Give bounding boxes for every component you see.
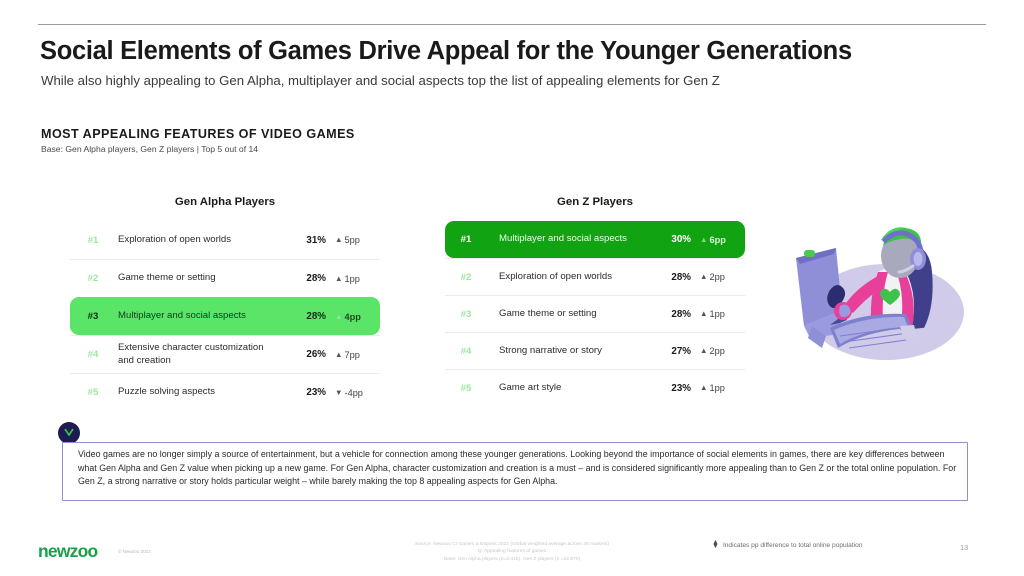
triangle-up-icon: ▲ <box>700 272 708 281</box>
slide-root: Social Elements of Games Drive Appeal fo… <box>0 0 1024 576</box>
gen-alpha-pp-delta: ▲5pp <box>326 235 380 245</box>
gen-z-pp-value: 1pp <box>710 309 725 319</box>
gen-z-percent: 23% <box>653 383 691 394</box>
triangle-up-icon: ▲ <box>335 274 343 283</box>
table-row[interactable]: #1Exploration of open worlds31%▲5pp <box>70 221 380 259</box>
source-line: Source: Newzoo CI Games & Esports 2022 (… <box>312 541 712 548</box>
panel-gen-alpha: Gen Alpha Players #1Exploration of open … <box>70 196 380 411</box>
table-row[interactable]: #2Game theme or setting28%▲1pp <box>70 259 380 297</box>
pp-legend: ▲▼ Indicates pp difference to total onli… <box>712 541 863 550</box>
triangle-up-icon: ▲ <box>335 235 343 244</box>
table-row[interactable]: #4Strong narrative or story27%▲2pp <box>445 332 745 369</box>
table-row[interactable]: #2Exploration of open worlds28%▲2pp <box>445 258 745 295</box>
gen-alpha-percent: 28% <box>288 273 326 284</box>
gen-z-percent: 28% <box>653 272 691 283</box>
triangle-up-icon: ▲ <box>700 309 708 318</box>
gen-z-percent: 28% <box>653 309 691 320</box>
triangle-up-icon: ▲ <box>700 235 708 244</box>
gen-z-pp-value: 6pp <box>710 235 726 245</box>
gamer-illustration <box>782 214 974 374</box>
gen-z-rank: #5 <box>445 383 487 394</box>
table-row[interactable]: #1Multiplayer and social aspects30%▲6pp <box>445 221 745 258</box>
gen-z-rank: #4 <box>445 346 487 357</box>
page-number: 13 <box>960 543 968 552</box>
gen-z-pp-delta: ▲6pp <box>691 235 745 245</box>
gen-alpha-rank: #3 <box>70 311 116 322</box>
gen-alpha-feature-label: Multiplayer and social aspects <box>116 310 288 322</box>
gen-z-rank: #2 <box>445 272 487 283</box>
source-line: Q: Appealing features of games <box>312 548 712 555</box>
gen-alpha-percent: 26% <box>288 349 326 360</box>
gen-z-rank: #1 <box>445 234 487 245</box>
table-row[interactable]: #5Puzzle solving aspects23%▼-4pp <box>70 373 380 411</box>
gen-alpha-pp-value: -4pp <box>345 388 363 398</box>
gen-z-percent: 30% <box>653 234 691 245</box>
gen-alpha-rank: #5 <box>70 387 116 398</box>
gen-z-pp-value: 1pp <box>710 383 725 393</box>
triangle-up-icon: ▲ <box>335 350 343 359</box>
table-row[interactable]: #5Game art style23%▲1pp <box>445 369 745 406</box>
section-kicker-base: Base: Gen Alpha players, Gen Z players |… <box>41 144 258 154</box>
insight-text: Video games are no longer simply a sourc… <box>78 448 958 489</box>
section-kicker: MOST APPEALING FEATURES OF VIDEO GAMES <box>41 127 355 141</box>
table-row[interactable]: #4Extensive character customization and … <box>70 335 380 373</box>
copyright-text: © Newzoo 2022 <box>118 549 151 554</box>
gen-alpha-rank: #4 <box>70 349 116 360</box>
gen-alpha-rank: #2 <box>70 273 116 284</box>
newzoo-logo: newzoo <box>38 541 97 562</box>
gen-alpha-feature-label: Exploration of open worlds <box>116 234 288 246</box>
gen-z-percent: 27% <box>653 346 691 357</box>
gen-alpha-feature-label: Puzzle solving aspects <box>116 386 288 398</box>
panel-gen-alpha-title: Gen Alpha Players <box>70 196 380 208</box>
up-down-arrow-icon: ▲▼ <box>712 541 719 550</box>
gen-z-feature-label: Game theme or setting <box>487 308 653 320</box>
gen-alpha-pp-value: 1pp <box>345 274 360 284</box>
header-divider <box>38 24 986 25</box>
gen-alpha-feature-label: Game theme or setting <box>116 272 288 284</box>
gen-z-pp-delta: ▲1pp <box>691 309 745 319</box>
gen-z-pp-delta: ▲1pp <box>691 383 745 393</box>
gen-alpha-pp-value: 4pp <box>345 312 361 322</box>
triangle-down-icon: ▼ <box>335 388 343 397</box>
triangle-up-icon: ▲ <box>700 346 708 355</box>
gen-z-rows: #1Multiplayer and social aspects30%▲6pp#… <box>445 221 745 406</box>
gen-z-pp-delta: ▲2pp <box>691 346 745 356</box>
gen-alpha-pp-value: 5pp <box>345 235 360 245</box>
gen-alpha-percent: 23% <box>288 387 326 398</box>
pp-legend-label: Indicates pp difference to total online … <box>723 542 863 549</box>
panel-gen-z: Gen Z Players #1Multiplayer and social a… <box>445 196 745 406</box>
gen-alpha-rows: #1Exploration of open worlds31%▲5pp#2Gam… <box>70 221 380 411</box>
gen-z-pp-value: 2pp <box>710 346 725 356</box>
page-title: Social Elements of Games Drive Appeal fo… <box>40 36 970 67</box>
gen-z-feature-label: Strong narrative or story <box>487 345 653 357</box>
table-row[interactable]: #3Game theme or setting28%▲1pp <box>445 295 745 332</box>
gen-alpha-percent: 31% <box>288 235 326 246</box>
gen-alpha-pp-delta: ▲7pp <box>326 350 380 360</box>
gen-alpha-percent: 28% <box>288 311 326 322</box>
source-note: Source: Newzoo CI Games & Esports 2022 (… <box>312 541 712 563</box>
gen-alpha-pp-delta: ▼-4pp <box>326 388 380 398</box>
gen-alpha-rank: #1 <box>70 235 116 246</box>
panel-gen-z-title: Gen Z Players <box>445 196 745 208</box>
triangle-up-icon: ▲ <box>335 312 343 321</box>
gen-alpha-pp-delta: ▲1pp <box>326 274 380 284</box>
page-subtitle: While also highly appealing to Gen Alpha… <box>41 72 971 89</box>
gen-z-feature-label: Game art style <box>487 382 653 394</box>
gen-z-feature-label: Exploration of open worlds <box>487 271 653 283</box>
gen-z-pp-delta: ▲2pp <box>691 272 745 282</box>
gen-z-pp-value: 2pp <box>710 272 725 282</box>
gen-alpha-pp-delta: ▲4pp <box>326 312 380 322</box>
gen-alpha-feature-label: Extensive character customization and cr… <box>116 342 288 367</box>
gen-z-feature-label: Multiplayer and social aspects <box>487 233 653 245</box>
gen-alpha-pp-value: 7pp <box>345 350 360 360</box>
source-line: Base: Gen Alpha players (n=3,415), Gen Z… <box>312 556 712 563</box>
gen-z-rank: #3 <box>445 309 487 320</box>
table-row[interactable]: #3Multiplayer and social aspects28%▲4pp <box>70 297 380 335</box>
triangle-up-icon: ▲ <box>700 383 708 392</box>
